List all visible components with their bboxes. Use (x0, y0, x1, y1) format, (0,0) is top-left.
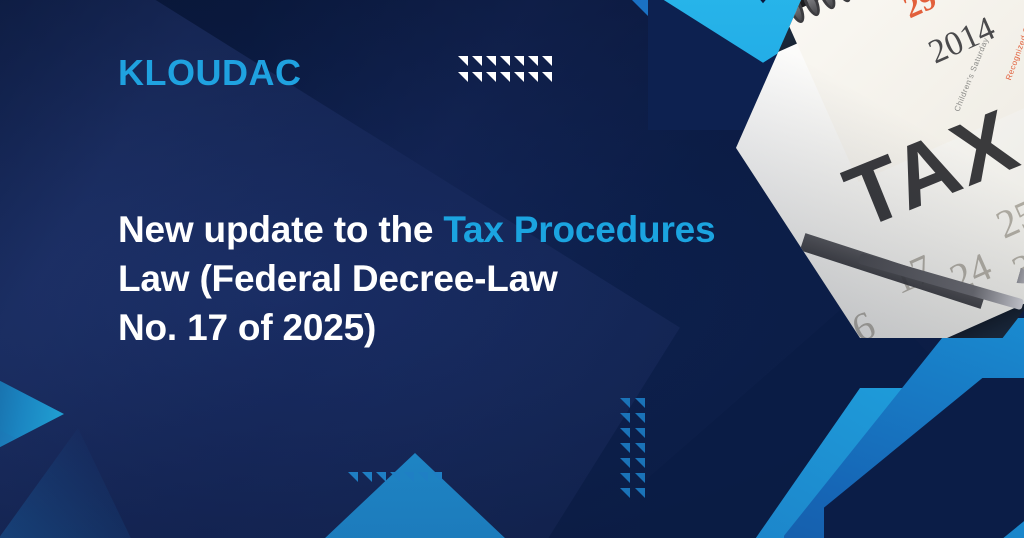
triangle-pattern-center-bottom (620, 398, 650, 503)
pattern-top-triangle-icon (472, 56, 482, 66)
pattern-top-triangle-icon (528, 72, 538, 82)
pattern-bottom-left-triangle-icon (348, 472, 358, 482)
promo-banner: 29 2014 Recognized Courier Children's Sa… (0, 0, 1024, 538)
pattern-bottom-left-triangle-icon (362, 472, 372, 482)
headline-line1-pre: New update to the (118, 209, 443, 250)
pattern-bottom-left-triangle-icon (376, 472, 386, 482)
pattern-center-bottom-triangle-icon (620, 443, 630, 453)
pattern-center-bottom-triangle-icon (620, 413, 630, 423)
triangle-pattern-top (458, 56, 556, 88)
pattern-center-bottom-triangle-icon (620, 488, 630, 498)
pattern-top-triangle-icon (514, 72, 524, 82)
page-title: New update to the Tax Procedures Law (Fe… (118, 206, 818, 352)
pattern-top-triangle-icon (514, 56, 524, 66)
pattern-center-bottom-triangle-icon (635, 428, 645, 438)
pattern-center-bottom-triangle-icon (635, 413, 645, 423)
pattern-top-triangle-icon (500, 56, 510, 66)
pattern-center-bottom-triangle-icon (620, 398, 630, 408)
pattern-top-triangle-icon (472, 72, 482, 82)
pattern-top-triangle-icon (458, 72, 468, 82)
pattern-top-triangle-icon (528, 56, 538, 66)
pattern-top-triangle-icon (458, 56, 468, 66)
brand-logo: KLOUDAC (118, 52, 301, 94)
pattern-top-triangle-icon (486, 56, 496, 66)
pattern-center-bottom-triangle-icon (635, 488, 645, 498)
headline-line2: Law (Federal Decree-Law (118, 258, 558, 299)
pattern-top-triangle-icon (486, 72, 496, 82)
pattern-center-bottom-triangle-icon (620, 458, 630, 468)
pattern-center-bottom-triangle-icon (620, 473, 630, 483)
pattern-bottom-left-triangle-icon (432, 472, 442, 482)
pattern-center-bottom-triangle-icon (620, 428, 630, 438)
headline-accent: Tax Procedures (443, 209, 715, 250)
pattern-bottom-left-triangle-icon (418, 472, 428, 482)
triangle-pattern-bottom-left (348, 472, 446, 484)
pattern-center-bottom-triangle-icon (635, 443, 645, 453)
pattern-bottom-left-triangle-icon (390, 472, 400, 482)
headline-line3: No. 17 of 2025) (118, 307, 376, 348)
pattern-bottom-left-triangle-icon (404, 472, 414, 482)
pattern-center-bottom-triangle-icon (635, 473, 645, 483)
pattern-top-triangle-icon (500, 72, 510, 82)
pattern-top-triangle-icon (542, 72, 552, 82)
pattern-top-triangle-icon (542, 56, 552, 66)
pattern-center-bottom-triangle-icon (635, 458, 645, 468)
pattern-center-bottom-triangle-icon (635, 398, 645, 408)
